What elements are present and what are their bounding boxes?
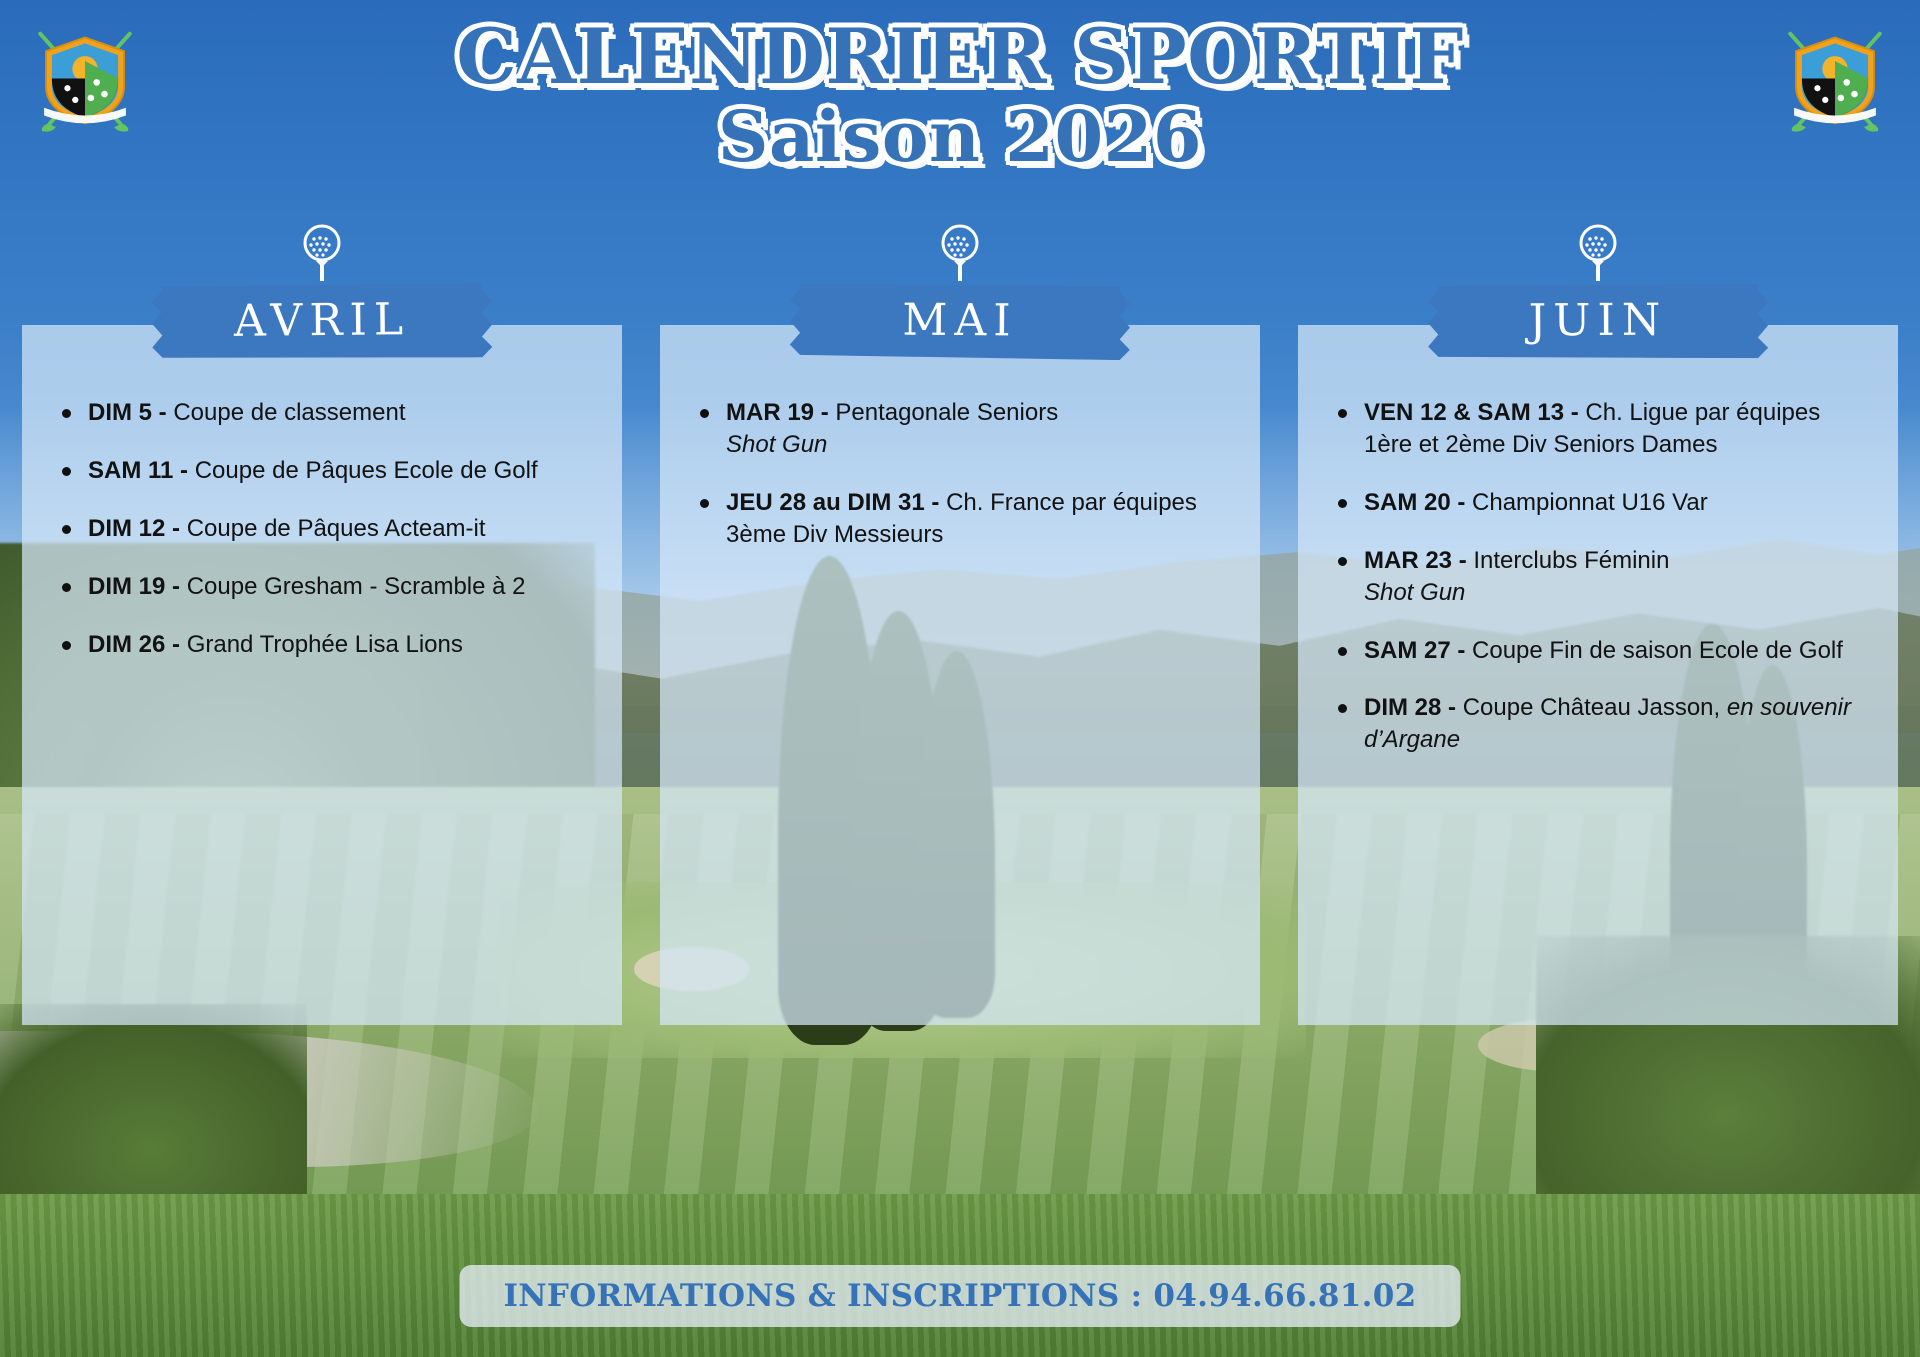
event-date: DIM 5 - <box>88 399 173 426</box>
event-text: Pentagonale Seniors <box>835 399 1058 426</box>
title-line-1: CALENDRIER SPORTIF <box>0 18 1920 96</box>
month-banner-juin: JUIN <box>1428 284 1768 360</box>
month-label: AVRIL <box>234 294 411 351</box>
list-item: JEU 28 au DIM 31 - Ch. France par équipe… <box>686 487 1234 551</box>
event-text: Coupe de Pâques Acteam-it <box>187 515 486 542</box>
title-line-2: Saison 2026 <box>0 96 1920 179</box>
month-card-avril: DIM 5 - Coupe de classement SAM 11 - Cou… <box>22 325 622 1025</box>
event-date: SAM 27 - <box>1364 637 1472 664</box>
month-column-mai: MAI MAR 19 - Pentagonale Seniors Shot Gu… <box>660 285 1260 1025</box>
event-text: Coupe de Pâques Ecole de Golf <box>195 457 538 484</box>
event-text: Coupe Château Jasson, <box>1463 694 1727 721</box>
event-text: Coupe Fin de saison Ecole de Golf <box>1472 637 1843 664</box>
month-banner-mai: MAI <box>790 284 1131 360</box>
golf-ball-on-tee-icon <box>938 223 982 290</box>
event-text: Grand Trophée Lisa Lions <box>187 631 463 658</box>
event-text: Interclubs Féminin <box>1473 547 1669 574</box>
month-card-juin: VEN 12 & SAM 13 - Ch. Ligue par équipes … <box>1298 325 1898 1025</box>
list-item: DIM 12 - Coupe de Pâques Acteam-it <box>48 513 596 545</box>
list-item: SAM 11 - Coupe de Pâques Ecole de Golf <box>48 455 596 487</box>
event-text: Coupe Gresham - Scramble à 2 <box>187 573 526 600</box>
list-item: SAM 20 - Championnat U16 Var <box>1324 487 1872 519</box>
golf-ball-on-tee-icon <box>1576 223 1620 290</box>
event-date: SAM 20 - <box>1364 489 1472 516</box>
event-date: SAM 11 - <box>88 457 195 484</box>
event-text: Championnat U16 Var <box>1472 489 1708 516</box>
list-item: DIM 26 - Grand Trophée Lisa Lions <box>48 629 596 661</box>
month-column-avril: AVRIL DIM 5 - Coupe de classement SAM 11… <box>22 285 622 1025</box>
event-date: DIM 12 - <box>88 515 187 542</box>
event-note: Shot Gun <box>1364 579 1465 606</box>
event-date: JEU 28 au DIM 31 - <box>726 489 946 516</box>
golf-ball-on-tee-icon <box>300 223 344 290</box>
list-item: DIM 19 - Coupe Gresham - Scramble à 2 <box>48 571 596 603</box>
month-columns: AVRIL DIM 5 - Coupe de classement SAM 11… <box>22 285 1898 1025</box>
page-title: CALENDRIER SPORTIF Saison 2026 <box>0 18 1920 178</box>
month-label: MAI <box>902 294 1018 350</box>
list-item: DIM 5 - Coupe de classement <box>48 397 596 429</box>
list-item: MAR 19 - Pentagonale Seniors Shot Gun <box>686 397 1234 461</box>
event-list-juin: VEN 12 & SAM 13 - Ch. Ligue par équipes … <box>1324 397 1872 756</box>
month-card-mai: MAR 19 - Pentagonale Seniors Shot Gun JE… <box>660 325 1260 1025</box>
list-item: MAR 23 - Interclubs Féminin Shot Gun <box>1324 545 1872 609</box>
event-date: DIM 26 - <box>88 631 187 658</box>
event-list-avril: DIM 5 - Coupe de classement SAM 11 - Cou… <box>48 397 596 661</box>
event-date: VEN 12 & SAM 13 - <box>1364 399 1585 426</box>
list-item: VEN 12 & SAM 13 - Ch. Ligue par équipes … <box>1324 397 1872 461</box>
list-item: SAM 27 - Coupe Fin de saison Ecole de Go… <box>1324 635 1872 667</box>
event-date: MAR 19 - <box>726 399 835 426</box>
event-text: Coupe de classement <box>173 399 405 426</box>
event-date: DIM 28 - <box>1364 694 1463 721</box>
event-list-mai: MAR 19 - Pentagonale Seniors Shot Gun JE… <box>686 397 1234 551</box>
contact-banner: INFORMATIONS & INSCRIPTIONS : 04.94.66.8… <box>459 1265 1460 1327</box>
month-label: JUIN <box>1529 294 1668 350</box>
month-column-juin: JUIN VEN 12 & SAM 13 - Ch. Ligue par équ… <box>1298 285 1898 1025</box>
event-note: Shot Gun <box>726 431 827 458</box>
event-date: DIM 19 - <box>88 573 187 600</box>
list-item: DIM 28 - Coupe Château Jasson, en souven… <box>1324 692 1872 756</box>
month-banner-avril: AVRIL <box>152 283 493 361</box>
event-date: MAR 23 - <box>1364 547 1473 574</box>
contact-text: INFORMATIONS & INSCRIPTIONS : 04.94.66.8… <box>503 1278 1416 1314</box>
